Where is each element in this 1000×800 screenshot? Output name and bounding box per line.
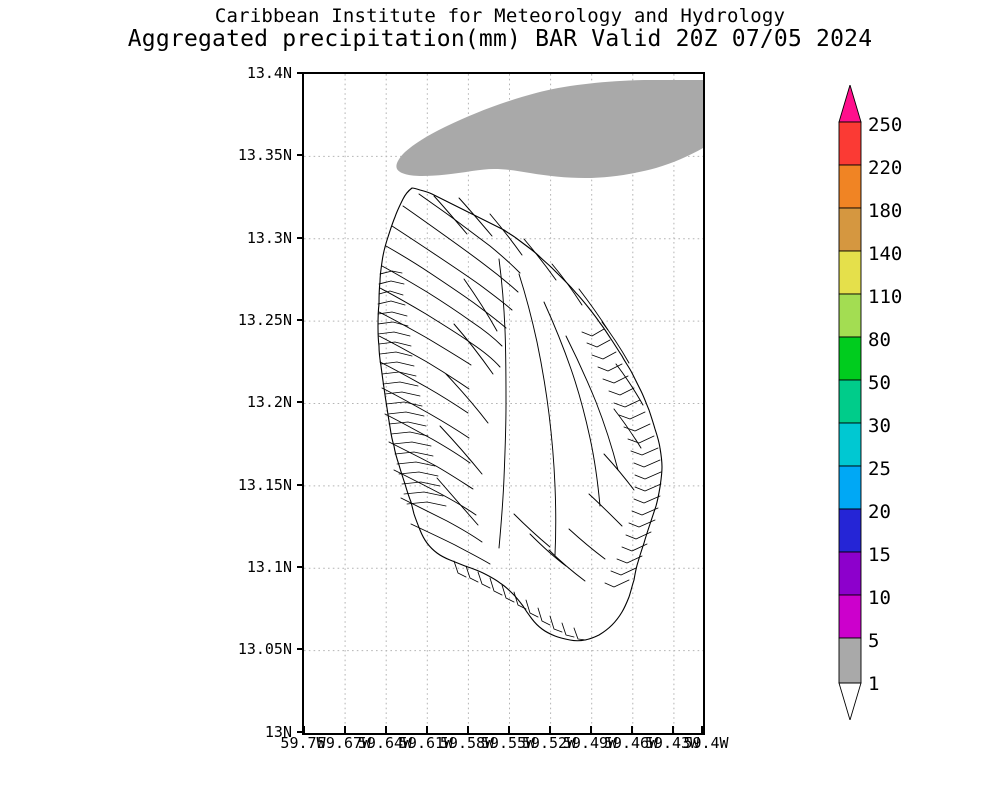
ytick-mark bbox=[297, 237, 304, 239]
ytick-label: 13.15N bbox=[187, 476, 292, 494]
colorbar-band-25-30 bbox=[839, 423, 861, 466]
colorbar-swatches bbox=[835, 85, 865, 720]
institute-name: Caribbean Institute for Meteorology and … bbox=[0, 6, 1000, 27]
map-plot-area[interactable] bbox=[302, 72, 705, 735]
colorbar-label-110: 110 bbox=[868, 286, 902, 308]
ytick-mark bbox=[297, 648, 304, 650]
colorbar-band-20-25 bbox=[839, 466, 861, 509]
xtick-mark bbox=[303, 726, 305, 733]
ytick-mark bbox=[297, 154, 304, 156]
ytick-label: 13.1N bbox=[187, 558, 292, 576]
colorbar-label-50: 50 bbox=[868, 372, 891, 394]
xtick-mark bbox=[672, 726, 674, 733]
colorbar-label-220: 220 bbox=[868, 157, 902, 179]
xtick-mark bbox=[426, 726, 428, 733]
colorbar-band-140-180 bbox=[839, 208, 861, 251]
precipitation-colorbar[interactable]: 250 220 180 140 110 80 50 30 25 20 15 10… bbox=[838, 85, 862, 720]
ytick-mark bbox=[297, 484, 304, 486]
colorbar-under-arrow bbox=[839, 683, 861, 720]
chart-title-block: Caribbean Institute for Meteorology and … bbox=[0, 6, 1000, 51]
xtick-mark bbox=[344, 726, 346, 733]
colorbar-band-5-10 bbox=[839, 595, 861, 638]
colorbar-label-140: 140 bbox=[868, 243, 902, 265]
ytick-mark bbox=[297, 72, 304, 74]
colorbar-band-50-80 bbox=[839, 337, 861, 380]
ytick-label: 13.4N bbox=[187, 64, 292, 82]
ytick-mark bbox=[297, 319, 304, 321]
parish-boundaries bbox=[379, 194, 643, 581]
colorbar-band-1-5 bbox=[839, 638, 861, 683]
colorbar-label-25: 25 bbox=[868, 458, 891, 480]
colorbar-band-10-15 bbox=[839, 552, 861, 595]
colorbar-label-1: 1 bbox=[868, 673, 879, 695]
page-title: Aggregated precipitation(mm) BAR Valid 2… bbox=[0, 27, 1000, 52]
colorbar-label-20: 20 bbox=[868, 501, 891, 523]
ytick-label: 13.35N bbox=[187, 146, 292, 164]
colorbar-band-220-250 bbox=[839, 122, 861, 165]
south-coast-ridges bbox=[454, 561, 586, 640]
xtick-mark bbox=[701, 726, 703, 733]
colorbar-label-5: 5 bbox=[868, 630, 879, 652]
colorbar-band-180-220 bbox=[839, 165, 861, 208]
ytick-label: 13.2N bbox=[187, 393, 292, 411]
xtick-mark bbox=[549, 726, 551, 733]
colorbar-label-15: 15 bbox=[868, 544, 891, 566]
ytick-label: 13.05N bbox=[187, 640, 292, 658]
ytick-label: 13.25N bbox=[187, 311, 292, 329]
xtick-mark bbox=[631, 726, 633, 733]
colorbar-band-30-50 bbox=[839, 380, 861, 423]
colorbar-label-10: 10 bbox=[868, 587, 891, 609]
xtick-mark bbox=[508, 726, 510, 733]
xtick-mark bbox=[467, 726, 469, 733]
ytick-label: 13N bbox=[187, 723, 292, 741]
map-clip-region bbox=[304, 74, 703, 733]
coastline bbox=[378, 188, 662, 641]
colorbar-band-110-140 bbox=[839, 251, 861, 294]
xtick-mark bbox=[590, 726, 592, 733]
ytick-mark bbox=[297, 401, 304, 403]
barbados-island-map bbox=[304, 74, 703, 733]
colorbar-over-arrow bbox=[839, 85, 861, 122]
colorbar-band-15-20 bbox=[839, 509, 861, 552]
xtick-mark bbox=[385, 726, 387, 733]
colorbar-band-80-110 bbox=[839, 294, 861, 337]
colorbar-label-180: 180 bbox=[868, 200, 902, 222]
colorbar-label-250: 250 bbox=[868, 114, 902, 136]
colorbar-label-30: 30 bbox=[868, 415, 891, 437]
ytick-mark bbox=[297, 566, 304, 568]
xtick-label: 59.4W bbox=[683, 734, 728, 752]
ytick-label: 13.3N bbox=[187, 229, 292, 247]
colorbar-label-80: 80 bbox=[868, 329, 891, 351]
